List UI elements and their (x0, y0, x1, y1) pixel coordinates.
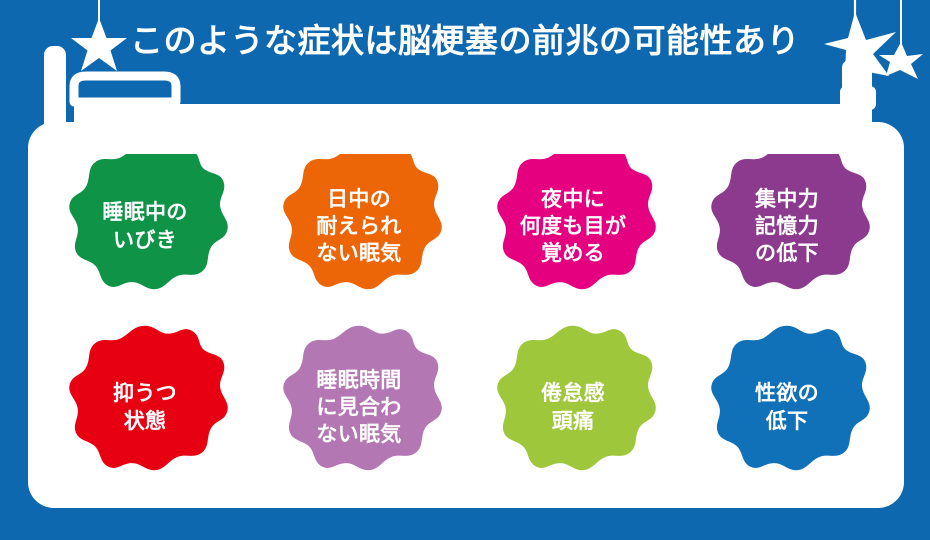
bed-icon (40, 46, 880, 156)
badge-label: 睡眠中の いびき (102, 199, 187, 254)
badge-sleep-snoring[interactable]: 睡眠中の いびき (38, 136, 252, 317)
badge-label: 睡眠時間 に見合わ ない眠気 (316, 367, 401, 449)
badge-label: 集中力 記憶力 の低下 (755, 186, 819, 268)
badge-daytime-sleepiness[interactable]: 日中の 耐えられ ない眠気 (252, 136, 466, 317)
badge-depressive-state[interactable]: 抑うつ 状態 (38, 317, 252, 498)
badge-label: 日中の 耐えられ ない眠気 (316, 186, 401, 268)
infographic-root: このような症状は脳梗塞の前兆の可能性あり 睡眠中の いびき 日中の 耐えられ な… (0, 0, 930, 540)
badge-label: 抑うつ 状態 (113, 380, 177, 435)
badge-night-awakening[interactable]: 夜中に 何度も目が 覚める (466, 136, 680, 317)
badge-label: 夜中に 何度も目が 覚める (520, 186, 627, 268)
badge-insufficient-rest-sleepiness[interactable]: 睡眠時間 に見合わ ない眠気 (252, 317, 466, 498)
badge-libido-decline[interactable]: 性欲の 低下 (680, 317, 894, 498)
badge-fatigue-headache[interactable]: 倦怠感 頭痛 (466, 317, 680, 498)
badge-label: 性欲の 低下 (755, 380, 819, 435)
badge-label: 倦怠感 頭痛 (541, 380, 605, 435)
badge-concentration-memory-decline[interactable]: 集中力 記憶力 の低下 (680, 136, 894, 317)
symptom-badge-grid: 睡眠中の いびき 日中の 耐えられ ない眠気 夜中に 何度も目が 覚める 集中力… (28, 130, 904, 508)
